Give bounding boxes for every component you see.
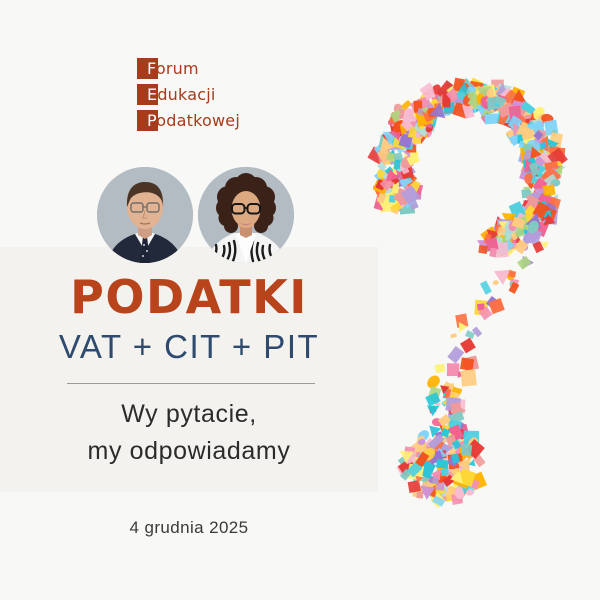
logo-line-1-text: Forum — [147, 56, 199, 81]
logo-cap-f: F — [147, 59, 156, 78]
logo-cap-p: P — [147, 111, 156, 130]
logo-rest-forum: orum — [156, 59, 199, 78]
page-title: PODATKI — [0, 271, 378, 323]
logo-line-3-text: Podatkowej — [147, 108, 240, 133]
logo-line-2-text: Edukacji — [147, 82, 216, 107]
avatar-speaker-2 — [198, 167, 294, 263]
forum-edukacji-podatkowej-logo: Forum Edukacji Podatkowej — [137, 56, 267, 136]
event-date: 4 grudnia 2025 — [0, 518, 378, 538]
logo-line-1: Forum — [137, 56, 267, 82]
poster-canvas: Forum Edukacji Podatkowej — [0, 0, 600, 600]
divider — [67, 383, 315, 384]
tagline-line-2: my odpowiadamy — [0, 433, 378, 470]
logo-line-2: Edukacji — [137, 82, 267, 108]
tagline: Wy pytacie, my odpowiadamy — [0, 396, 378, 470]
logo-line-3: Podatkowej — [137, 108, 267, 134]
tagline-line-1: Wy pytacie, — [0, 396, 378, 433]
logo-cap-e: E — [147, 85, 157, 104]
question-mark-confetti — [330, 55, 600, 515]
tax-types-subtitle: VAT + CIT + PIT — [0, 327, 378, 367]
avatar-speaker-1 — [97, 167, 193, 263]
logo-rest-edukacji: dukacji — [157, 85, 215, 104]
logo-rest-podatkowej: odatkowej — [156, 111, 240, 130]
